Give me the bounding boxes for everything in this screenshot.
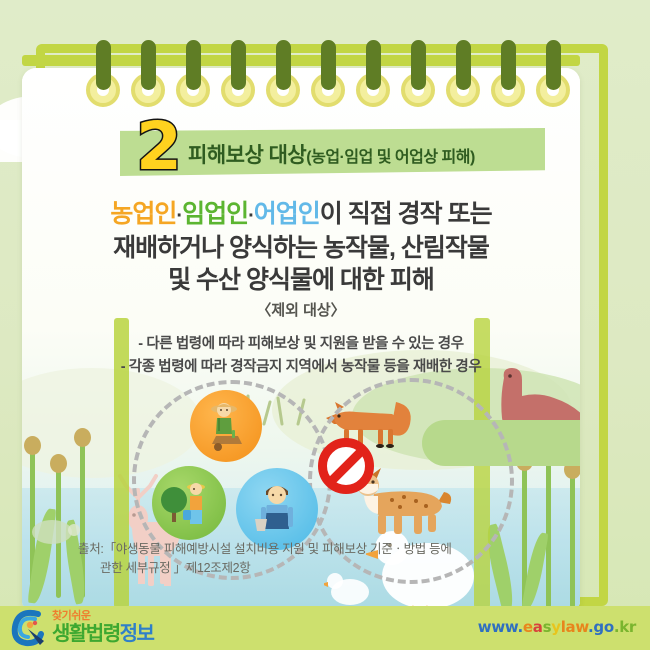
binder-ring xyxy=(321,40,336,90)
exclusion-label: 〈제외 대상〉 xyxy=(22,299,580,320)
binder-ring xyxy=(231,40,246,90)
logo-name-green: 생활법령 xyxy=(52,623,120,645)
binder-ring xyxy=(456,40,471,90)
banner-title-main: 피해보상 대상 xyxy=(188,144,306,167)
reed-head xyxy=(50,454,67,473)
binder-ring xyxy=(546,40,561,90)
term-farmer: 농업인 xyxy=(110,200,176,228)
term-fisher: 어업인 xyxy=(254,200,320,228)
easylaw-logo-icon[interactable] xyxy=(8,607,48,647)
easylaw-logo-text[interactable]: 찾기쉬운 생활법령정보 xyxy=(52,611,153,644)
farmer-icon xyxy=(198,398,254,454)
logo-tagline: 찾기쉬운 xyxy=(52,611,153,622)
list-item: - 다른 법령에 따라 피해보상 및 지원을 받을 수 있는 경우 xyxy=(22,333,580,356)
infographic-card: 2 피해보상 대상(농업·임업 및 어업상 피해) 농업인·임업인·어업인이 직… xyxy=(0,0,650,650)
url-part: www. xyxy=(478,618,523,636)
headline-line-3: 및 수산 양식물에 대한 피해 xyxy=(22,264,580,296)
logo-name: 생활법령정보 xyxy=(52,624,153,644)
url-part: e xyxy=(523,618,533,636)
source-line-2: 관한 세부규정 」제12조제2항 xyxy=(78,559,548,578)
url-part: a xyxy=(533,618,543,636)
binder-ring xyxy=(501,40,516,90)
binder-ring xyxy=(141,40,156,90)
website-url[interactable]: www.easylaw.go.kr xyxy=(478,618,636,636)
binder-ring xyxy=(186,40,201,90)
source-line-1: 출처:「야생동물 피해예방시설 설치비용 지원 및 피해보상 기준ㆍ방법 등에 xyxy=(78,542,452,556)
source-citation: 출처:「야생동물 피해예방시설 설치비용 지원 및 피해보상 기준ㆍ방법 등에 … xyxy=(78,540,548,578)
headline: 농업인·임업인·어업인이 직접 경작 또는 재배하거나 양식하는 농작물, 산림… xyxy=(22,198,580,296)
binder-ring xyxy=(96,40,111,90)
banner-title-sub: (농업·임업 및 어업상 피해) xyxy=(306,149,475,166)
fisher-icon xyxy=(245,477,309,541)
reed-stem xyxy=(570,472,575,608)
url-part: law xyxy=(561,618,588,636)
url-part: y xyxy=(551,618,560,636)
url-part: .kr xyxy=(614,618,636,636)
term-forester: 임업인 xyxy=(182,200,248,228)
headline-line-1: 농업인·임업인·어업인이 직접 경작 또는 xyxy=(22,198,580,232)
prohibition-sign xyxy=(318,438,374,494)
logo-name-blue: 정보 xyxy=(120,623,154,645)
binder-ring xyxy=(411,40,426,90)
url-part: .go xyxy=(588,618,614,636)
binder-ring xyxy=(276,40,291,90)
reed-stem xyxy=(546,444,551,608)
headline-line-1-rest: 이 직접 경작 또는 xyxy=(320,200,492,228)
turtle-illustration xyxy=(26,514,80,548)
reed-head xyxy=(74,428,91,447)
section-number: 2 xyxy=(136,114,182,180)
forester-icon xyxy=(160,474,218,532)
exclusion-list: - 다른 법령에 따라 피해보상 및 지원을 받을 수 있는 경우 - 각종 법… xyxy=(22,333,580,379)
forester-bubble xyxy=(152,466,226,540)
banner-title: 피해보상 대상(농업·임업 및 어업상 피해) xyxy=(188,139,475,169)
list-item: - 각종 법령에 따라 경작금지 지역에서 농작물 등을 재배한 경우 xyxy=(22,356,580,379)
farmer-bubble xyxy=(190,390,262,462)
url-part: s xyxy=(543,618,552,636)
fisher-bubble xyxy=(236,468,318,550)
headline-line-2: 재배하거나 양식하는 농작물, 산림작물 xyxy=(22,232,580,264)
reed-head xyxy=(24,436,41,455)
binder-ring xyxy=(366,40,381,90)
